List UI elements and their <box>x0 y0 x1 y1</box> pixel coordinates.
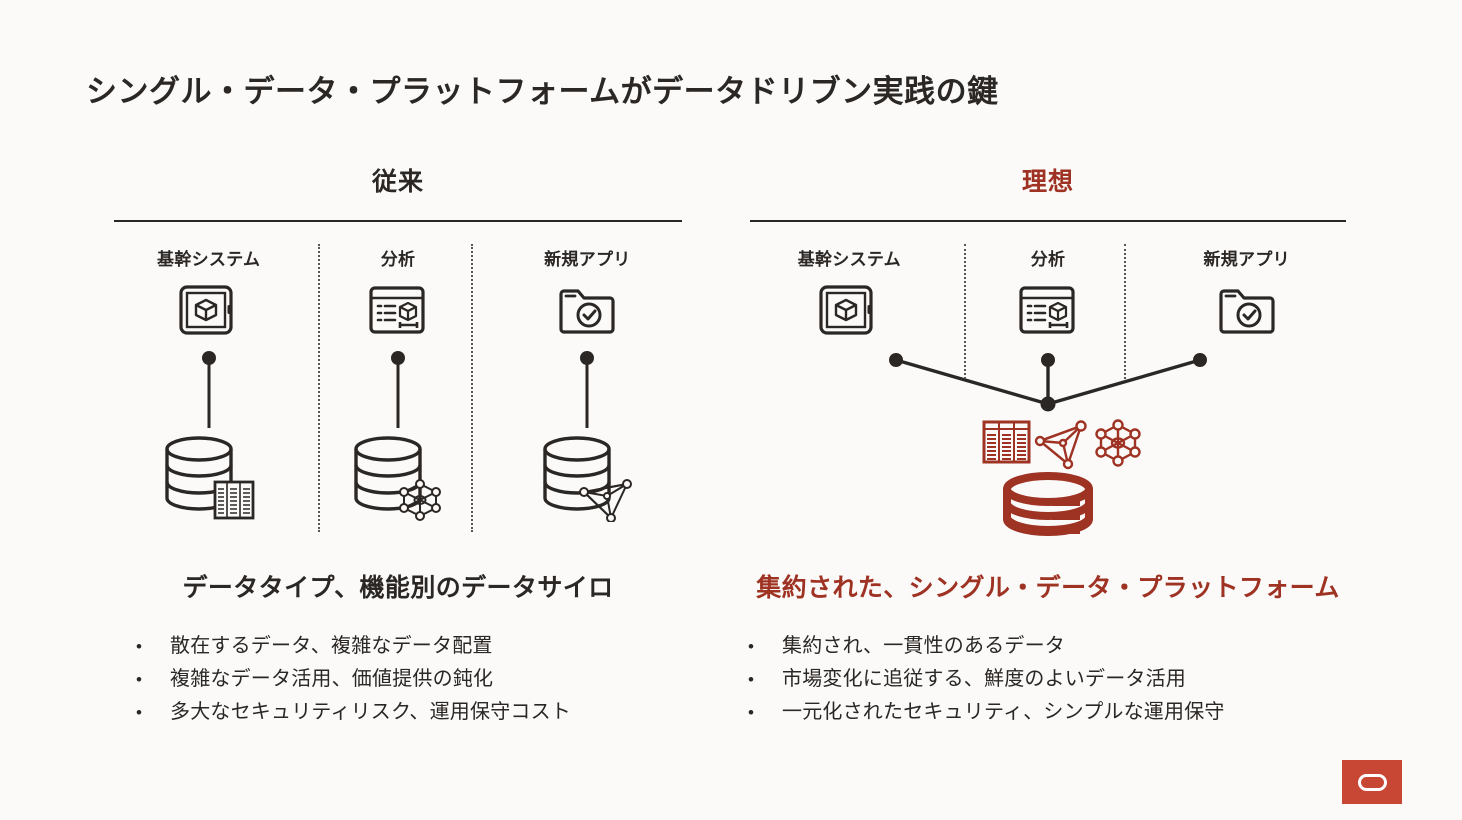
bullet-marker-icon: • <box>136 663 170 696</box>
column-label-analytics: 分析 <box>303 245 492 270</box>
column-divider-dotted <box>964 244 966 379</box>
dashboard-cube-icon <box>367 284 429 336</box>
column-header-row-ideal: 基幹システム 分析 新規アプリ <box>750 245 1346 270</box>
oracle-logo <box>1342 760 1402 804</box>
bullet-list-traditional: • 散在するデータ、複雑なデータ配置 • 複雑なデータ活用、価値提供の鈍化 • … <box>136 630 571 729</box>
panel-heading-traditional: 従来 <box>114 170 682 195</box>
source-icon-cell <box>303 284 492 336</box>
connector-cell <box>303 350 492 432</box>
database-unified-icon <box>1007 476 1089 534</box>
panel-ideal: 理想 基幹システム 分析 新規アプリ <box>750 170 1346 536</box>
column-label-core-system: 基幹システム <box>750 245 949 270</box>
list-item: • 多大なセキュリティリスク、運用保守コスト <box>136 696 571 729</box>
folder-check-icon <box>556 284 618 336</box>
panel-heading-ideal: 理想 <box>750 170 1346 195</box>
database-table-icon <box>159 432 259 522</box>
connector-line-icon <box>383 350 413 432</box>
connector-line-icon <box>572 350 602 432</box>
source-icon-cell <box>750 284 949 336</box>
panel-divider-rule <box>114 220 682 222</box>
datastore-cell <box>114 432 303 522</box>
tablet-cube-icon <box>818 284 880 336</box>
source-icon-row-traditional <box>114 284 682 336</box>
panel-divider-rule <box>750 220 1346 222</box>
column-divider-dotted <box>471 244 473 532</box>
source-icon-cell <box>949 284 1148 336</box>
converging-connector-icon <box>750 350 1346 416</box>
list-item-label: 集約され、一貫性のあるデータ <box>782 630 1065 663</box>
connector-cell <box>114 350 303 432</box>
database-molecule-icon <box>348 432 448 522</box>
folder-check-icon <box>1216 284 1278 336</box>
column-label-core-system: 基幹システム <box>114 245 303 270</box>
source-icon-cell <box>1147 284 1346 336</box>
list-item: • 市場変化に追従する、鮮度のよいデータ活用 <box>748 663 1225 696</box>
molecule-icon <box>1097 421 1140 466</box>
bullet-list-ideal: • 集約され、一貫性のあるデータ • 市場変化に追従する、鮮度のよいデータ活用 … <box>748 630 1225 729</box>
source-icon-row-ideal <box>750 284 1346 336</box>
panel-traditional: 従来 基幹システム 分析 新規アプリ <box>114 170 682 522</box>
list-item-label: 一元化されたセキュリティ、シンプルな運用保守 <box>782 696 1225 729</box>
page-title: シングル・データ・プラットフォームがデータドリブン実践の鍵 <box>86 66 999 111</box>
caption-ideal: 集約された、シングル・データ・プラットフォーム <box>742 568 1354 604</box>
list-item-label: 多大なセキュリティリスク、運用保守コスト <box>170 696 571 729</box>
oracle-ring-icon <box>1358 774 1387 791</box>
database-graph-icon <box>537 432 637 522</box>
list-item: • 集約され、一貫性のあるデータ <box>748 630 1225 663</box>
dashboard-cube-icon <box>1017 284 1079 336</box>
source-icon-cell <box>114 284 303 336</box>
bullet-marker-icon: • <box>136 696 170 729</box>
unified-platform-group <box>750 416 1346 536</box>
datastore-cell <box>493 432 682 522</box>
tablet-cube-icon <box>178 284 240 336</box>
list-item: • 複雑なデータ活用、価値提供の鈍化 <box>136 663 571 696</box>
list-item-label: 市場変化に追従する、鮮度のよいデータ活用 <box>782 663 1186 696</box>
bullet-marker-icon: • <box>136 630 170 663</box>
list-item-label: 散在するデータ、複雑なデータ配置 <box>170 630 493 663</box>
column-divider-dotted <box>318 244 320 532</box>
table-icon <box>984 422 1029 462</box>
datastore-cell <box>303 432 492 522</box>
column-header-row-traditional: 基幹システム 分析 新規アプリ <box>114 245 682 270</box>
bullet-marker-icon: • <box>748 696 782 729</box>
source-icon-cell <box>493 284 682 336</box>
connector-row-traditional <box>114 350 682 432</box>
list-item: • 一元化されたセキュリティ、シンプルな運用保守 <box>748 696 1225 729</box>
slide-canvas: シングル・データ・プラットフォームがデータドリブン実践の鍵 従来 基幹システム … <box>0 0 1462 820</box>
column-label-analytics: 分析 <box>949 245 1148 270</box>
list-item-label: 複雑なデータ活用、価値提供の鈍化 <box>170 663 493 696</box>
list-item: • 散在するデータ、複雑なデータ配置 <box>136 630 571 663</box>
datastore-row-traditional <box>114 432 682 522</box>
column-divider-dotted <box>1124 244 1126 379</box>
caption-traditional: データタイプ、機能別のデータサイロ <box>114 568 682 604</box>
connector-cell <box>493 350 682 432</box>
connector-line-icon <box>194 350 224 432</box>
bullet-marker-icon: • <box>748 663 782 696</box>
column-label-new-apps: 新規アプリ <box>1147 245 1346 270</box>
bullet-marker-icon: • <box>748 630 782 663</box>
column-label-new-apps: 新規アプリ <box>493 245 682 270</box>
